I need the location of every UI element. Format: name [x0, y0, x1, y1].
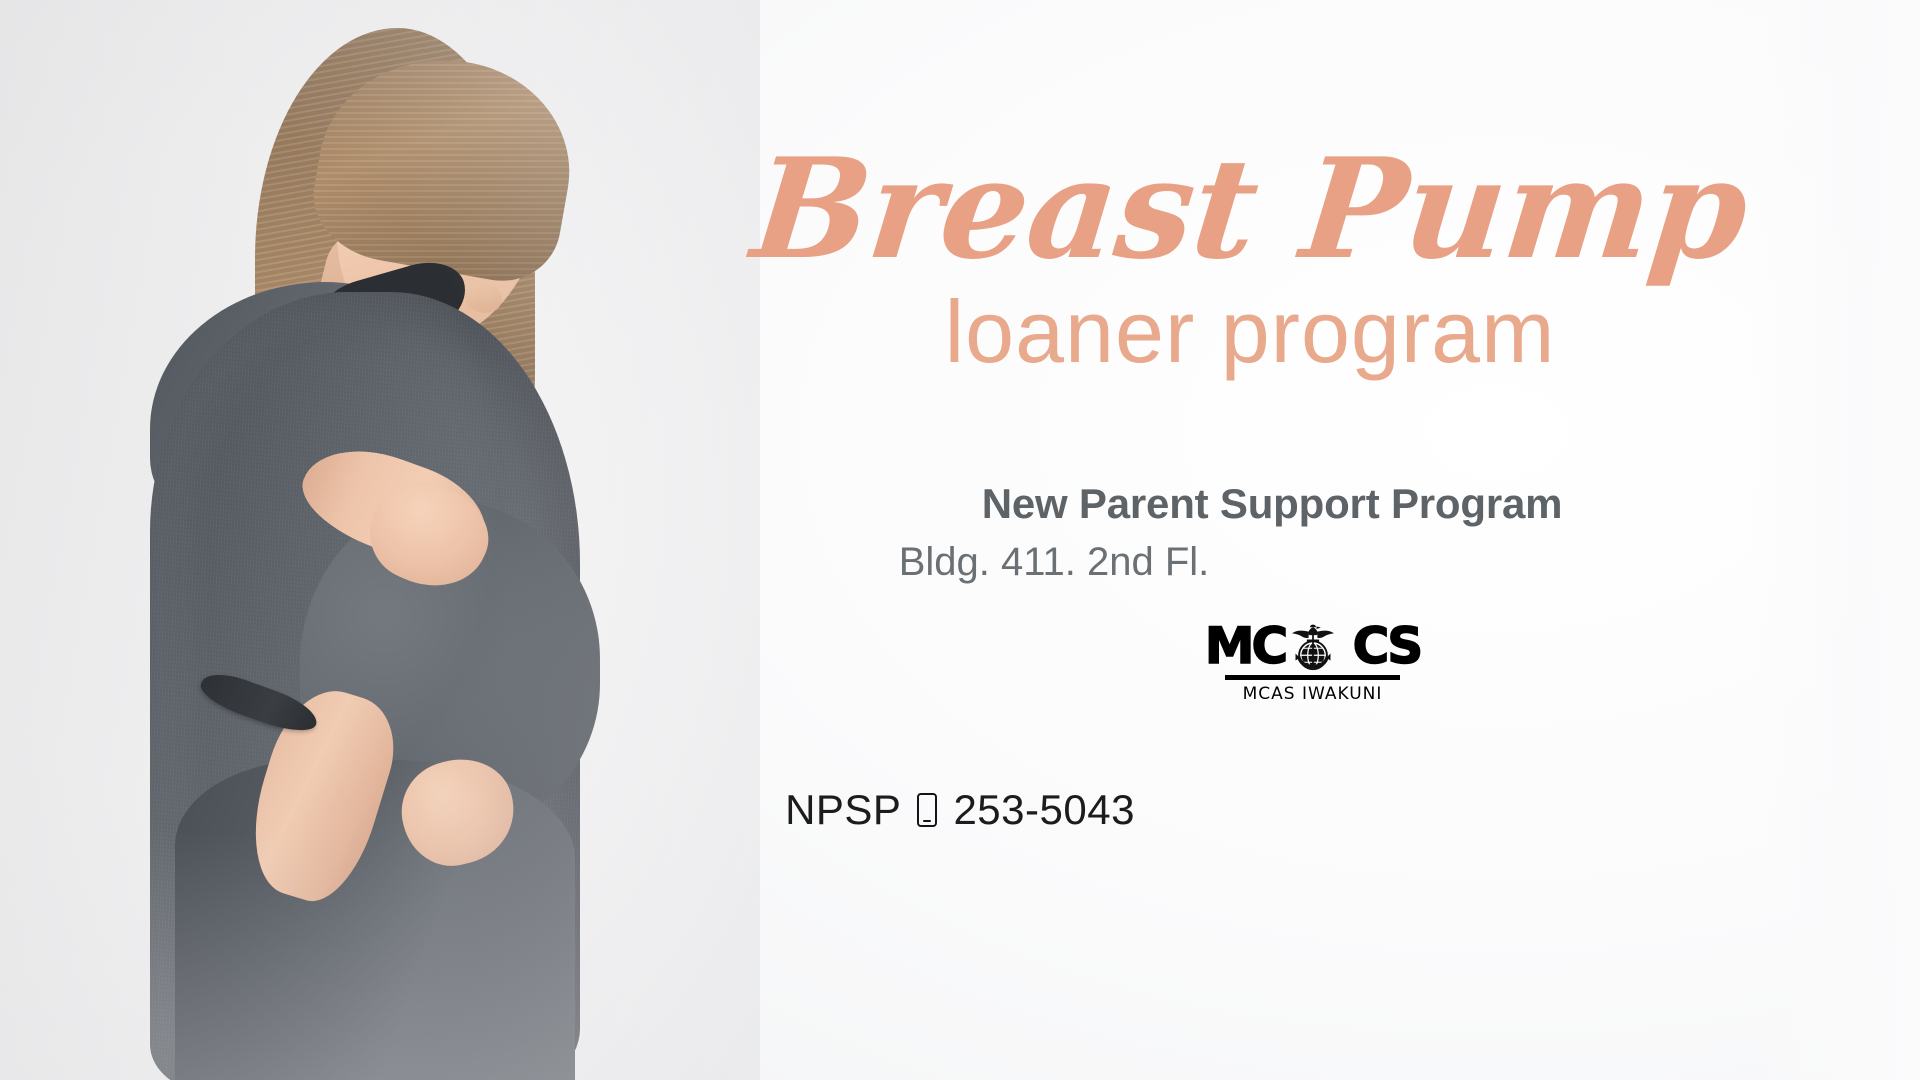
- program-name: New Parent Support Program: [682, 480, 1862, 528]
- poster-content: Breast Pump loaner program New Parent Su…: [760, 0, 1920, 1080]
- program-address: Bldg. 411. 2nd Fl.: [464, 540, 1644, 585]
- headline-subline: loaner program: [660, 288, 1840, 376]
- mccs-wordmark-right: CS: [1353, 621, 1421, 671]
- mccs-wordmark-left: MC: [1205, 621, 1285, 671]
- contact-phone-number: 253-5043: [953, 786, 1135, 834]
- contact-row: NPSP 253-5043: [680, 786, 1240, 834]
- contact-label: NPSP: [785, 786, 901, 834]
- mccs-location-subtitle: MCAS IWAKUNI: [1225, 684, 1400, 704]
- headline-script: Breast Pump: [653, 140, 1848, 278]
- marine-corps-eagle-globe-anchor-icon: [1285, 620, 1341, 676]
- mobile-phone-icon: [917, 793, 937, 827]
- photo-right-fade: [1750, 0, 1920, 1080]
- poster-canvas: Breast Pump loaner program New Parent Su…: [0, 0, 1920, 1080]
- mccs-wordmark: MC CC CS: [1225, 620, 1400, 672]
- mccs-logo: MC CC CS: [1225, 620, 1400, 704]
